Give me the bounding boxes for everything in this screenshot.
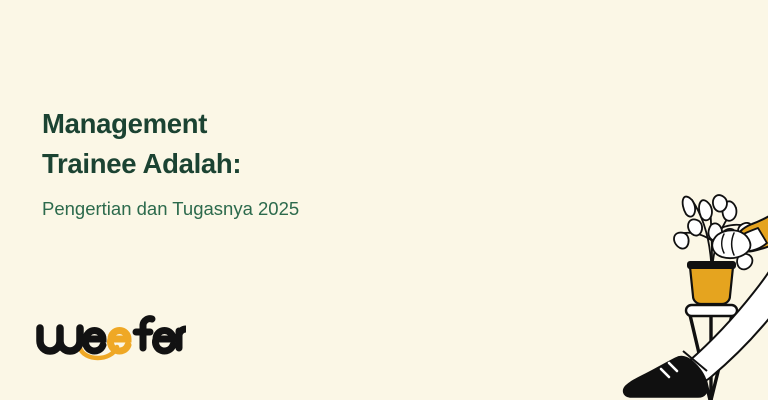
page-title-line-1: Management: [42, 104, 412, 144]
banner-text-block: Management Trainee Adalah: Pengertian da…: [42, 104, 412, 221]
plant-pot: [690, 267, 733, 304]
logo-letter-f: [136, 319, 152, 348]
page-title-line-2: Trainee Adalah:: [42, 144, 412, 184]
plant-pot-rim: [687, 261, 736, 269]
logo-letter-r: [179, 329, 186, 348]
person-shoe-back: [624, 357, 708, 397]
logo-letter-e1: [85, 331, 103, 352]
page-title: Management Trainee Adalah:: [42, 104, 412, 185]
article-banner: Management Trainee Adalah: Pengertian da…: [0, 0, 768, 400]
logo-letter-w: [40, 328, 80, 351]
plant-stand-plate: [686, 305, 737, 316]
logo-letter-e-accent: [110, 331, 128, 352]
logo-letter-e2: [155, 331, 173, 352]
page-subtitle: Pengertian dan Tugasnya 2025: [42, 197, 412, 221]
weefer-logo[interactable]: [36, 312, 186, 364]
hero-illustration: [380, 0, 768, 400]
